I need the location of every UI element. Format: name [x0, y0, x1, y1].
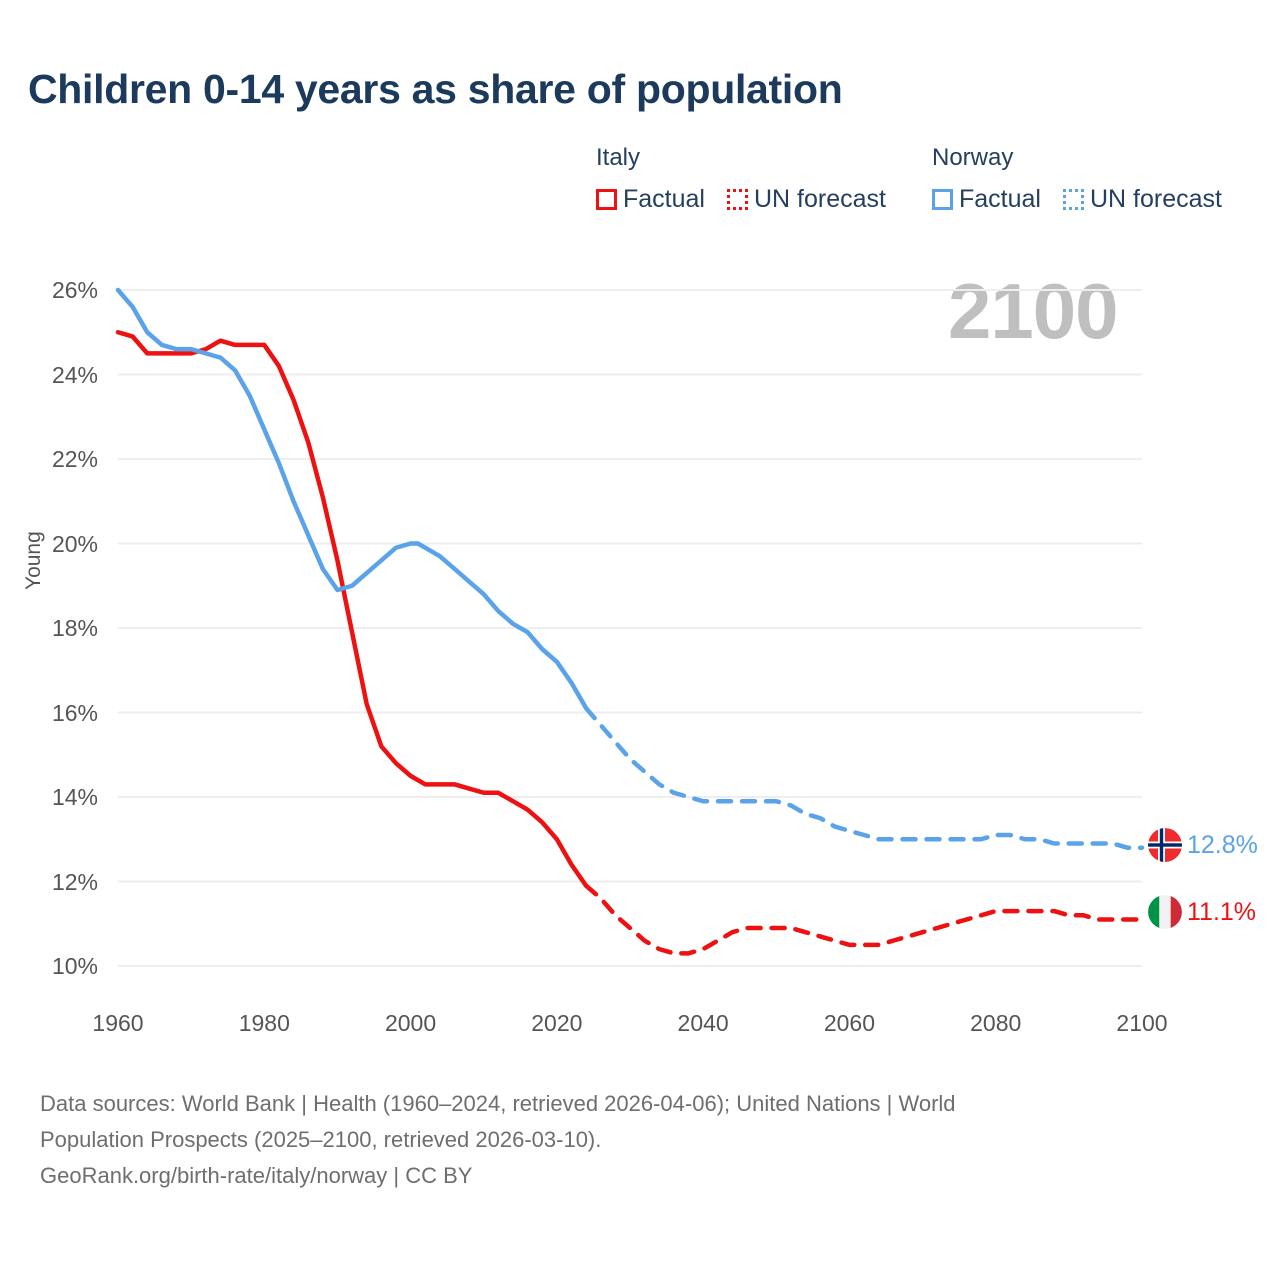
x-tick-label: 2020 [531, 1010, 582, 1037]
chart-footer: Data sources: World Bank | Health (1960–… [40, 1086, 1190, 1194]
chart-page: Children 0-14 years as share of populati… [0, 0, 1280, 1280]
series-line-italy-factual [118, 332, 586, 885]
end-value-norway: 12.8% [1187, 828, 1258, 862]
italy-flag-icon [1148, 895, 1182, 929]
x-tick-label: 2080 [970, 1010, 1021, 1037]
x-tick-label: 1980 [239, 1010, 290, 1037]
end-label-italy: 11.1% [1148, 895, 1256, 929]
y-tick-label: 14% [52, 784, 98, 811]
footer-line-1: Data sources: World Bank | Health (1960–… [40, 1086, 1190, 1122]
x-tick-label: 1960 [92, 1010, 143, 1037]
y-tick-label: 10% [52, 953, 98, 980]
x-tick-label: 2100 [1116, 1010, 1167, 1037]
y-tick-label: 18% [52, 615, 98, 642]
y-tick-label: 22% [52, 446, 98, 473]
y-tick-label: 12% [52, 869, 98, 896]
series-line-norway-un-forecast [586, 708, 1142, 847]
x-tick-label: 2000 [385, 1010, 436, 1037]
x-tick-label: 2040 [678, 1010, 729, 1037]
y-tick-label: 26% [52, 277, 98, 304]
y-tick-label: 16% [52, 700, 98, 727]
end-value-italy: 11.1% [1187, 895, 1256, 929]
end-label-norway: 12.8% [1148, 828, 1258, 862]
norway-flag-icon [1148, 828, 1182, 862]
y-tick-label: 24% [52, 362, 98, 389]
x-tick-label: 2060 [824, 1010, 875, 1037]
y-tick-label: 20% [52, 531, 98, 558]
footer-line-2: Population Prospects (2025–2100, retriev… [40, 1122, 1190, 1158]
footer-line-3: GeoRank.org/birth-rate/italy/norway | CC… [40, 1158, 1190, 1194]
series-line-italy-un-forecast [586, 886, 1142, 954]
